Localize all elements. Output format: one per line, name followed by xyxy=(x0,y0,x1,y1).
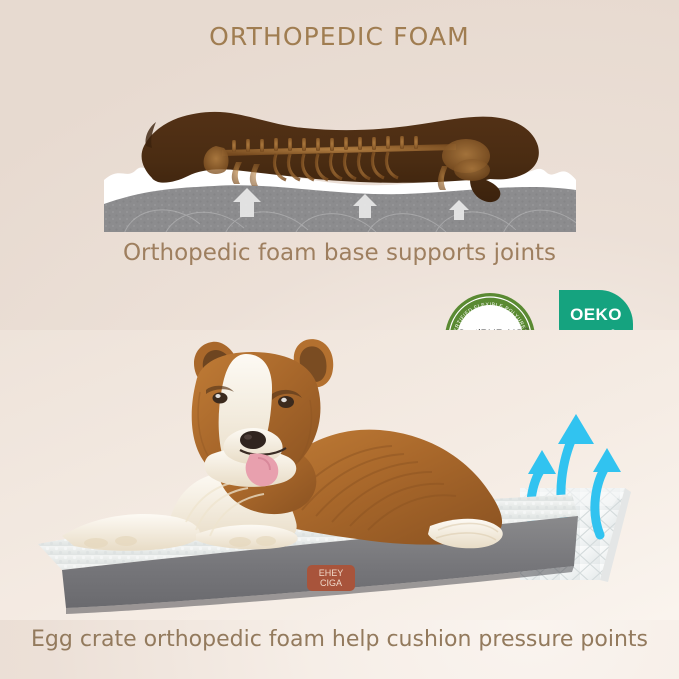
brand-tag: EHEY CIGA xyxy=(307,565,355,591)
caption-orthopedic-support: Orthopedic foam base supports joints xyxy=(0,240,679,266)
dog-left-eye xyxy=(213,393,228,404)
dog-on-bed-photo: EHEY CIGA xyxy=(0,330,679,620)
brand-tag-line-1: EHEY xyxy=(319,568,344,578)
dog-right-eye xyxy=(278,396,294,408)
caption-egg-crate-foam: Egg crate orthopedic foam help cushion p… xyxy=(0,627,679,652)
brand-tag-line-2: CIGA xyxy=(320,578,342,588)
oeko-line-1: OEKO xyxy=(570,306,622,324)
infographic-canvas: ORTHOPEDIC FOAM xyxy=(0,0,679,679)
dog-nose xyxy=(240,431,266,449)
foam-cross-section-illustration xyxy=(104,84,576,232)
page-title: ORTHOPEDIC FOAM xyxy=(0,22,679,51)
